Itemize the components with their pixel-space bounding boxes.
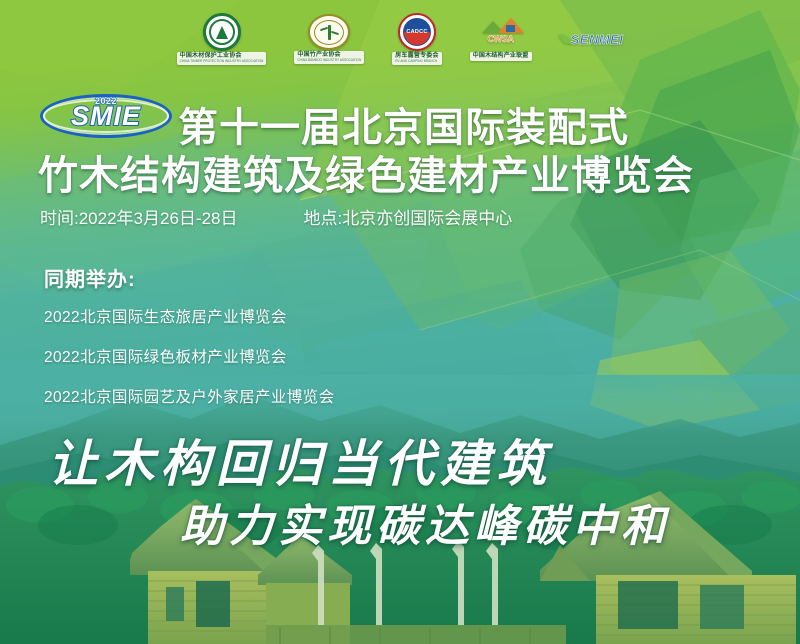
- organizer-3-label: 房车露营专委会 RV AND CAMPING BRANCH: [392, 52, 441, 65]
- leaf-icon: [558, 32, 571, 46]
- organizer-logo-2[interactable]: 中国竹产业协会 CHINA BAMBOO INDUSTRY ASSOCIATIO…: [294, 14, 364, 64]
- event-venue: 地点:北京亦创国际会展中心: [303, 204, 512, 229]
- list-item: 2022北京国际绿色板材产业博览会: [44, 345, 334, 367]
- list-item: 2022北京国际园艺及户外家居产业博览会: [44, 385, 334, 407]
- concurrent-title: 同期举办:: [44, 263, 334, 292]
- cadcc-seal-icon: CADCC: [398, 13, 436, 51]
- cwsa-house-icon: CWSA: [478, 17, 524, 51]
- organizer-4-label: 中国木结构产业联盟: [470, 52, 532, 61]
- event-meta: 时间:2022年3月26日-28日 地点:北京亦创国际会展中心: [40, 204, 512, 229]
- cwsa-abbr: CWSA: [480, 34, 522, 44]
- organizer-logo-5[interactable]: SENMEI: [560, 32, 624, 47]
- organizer-1-label: 中国木材保护工业协会 CHINA TIMBER PROTECTION INDUS…: [177, 52, 267, 65]
- concurrent-event-list: 2022北京国际生态旅居产业博览会 2022北京国际绿色板材产业博览会 2022…: [44, 305, 334, 407]
- organizer-logo-row: 中国木材保护工业协会 CHINA TIMBER PROTECTION INDUS…: [0, 0, 800, 78]
- headline-line-2: 竹木结构建筑及绿色建材产业博览会: [38, 143, 694, 201]
- senmei-leaf-icon: SENMEI: [560, 32, 624, 47]
- slogan-line-2: 助力实现碳达峰碳中和: [180, 490, 670, 554]
- list-item: 2022北京国际生态旅居产业博览会: [44, 305, 334, 327]
- smie-acronym: SMIE: [40, 103, 172, 130]
- senmei-wordmark: SENMEI: [571, 32, 624, 47]
- exhibition-poster: 中国木材保护工业协会 CHINA TIMBER PROTECTION INDUS…: [0, 0, 800, 644]
- concurrent-events-block: 同期举办: 2022北京国际生态旅居产业博览会 2022北京国际绿色板材产业博览…: [44, 263, 334, 425]
- slogan-line-1: 让木构回归当代建筑: [48, 424, 552, 496]
- organizer-logo-1[interactable]: 中国木材保护工业协会 CHINA TIMBER PROTECTION INDUS…: [177, 13, 267, 65]
- organizer-logo-3[interactable]: CADCC 房车露营专委会 RV AND CAMPING BRANCH: [392, 13, 441, 65]
- organizer-logo-4[interactable]: CWSA 中国木结构产业联盟: [470, 17, 532, 61]
- bamboo-seal-icon: [308, 14, 350, 50]
- smie-logo[interactable]: 2022 SMIE: [40, 94, 172, 138]
- cadcc-abbr: CADCC: [406, 29, 427, 35]
- pine-seal-icon: [203, 13, 241, 51]
- event-date: 时间:2022年3月26日-28日: [40, 204, 237, 229]
- organizer-2-label: 中国竹产业协会 CHINA BAMBOO INDUSTRY ASSOCIATIO…: [294, 51, 364, 64]
